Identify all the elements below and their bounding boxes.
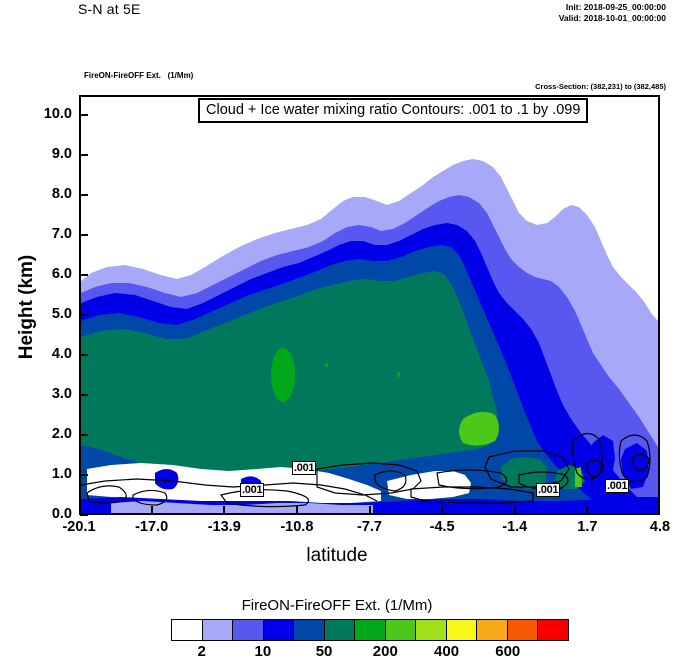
x-tick-mark [223, 506, 225, 514]
y-tick-label: 8.0 [6, 186, 72, 202]
contour-label: .001 [605, 479, 629, 493]
x-tick-label: -1.4 [480, 519, 550, 535]
surface-blue-blob-a [155, 469, 178, 489]
colorbar-swatch [233, 620, 264, 640]
x-tick-mark [369, 506, 371, 514]
colorbar-tick-label: 200 [355, 643, 415, 660]
colorbar-swatch [203, 620, 234, 640]
x-tick-mark [441, 506, 443, 514]
colorbar-tick-label: 600 [478, 643, 538, 660]
y-tick-label: 5.0 [6, 306, 72, 322]
x-tick-label: -17.0 [117, 519, 187, 535]
y-tick-mark [80, 114, 88, 116]
y-tick-label: 1.0 [6, 466, 72, 482]
y-tick-mark [80, 394, 88, 396]
x-tick-label: -10.8 [262, 519, 332, 535]
y-tick-label: 9.0 [6, 146, 72, 162]
init-time: Init: 2018-09-25_00:00:00 [559, 2, 666, 13]
colorbar-swatch [477, 620, 508, 640]
y-tick-label: 4.0 [6, 346, 72, 362]
colorbar-swatch [447, 620, 478, 640]
colorbar-swatch [386, 620, 417, 640]
x-tick-mark [586, 506, 588, 514]
x-tick-label: -4.5 [407, 519, 477, 535]
y-tick-mark [80, 474, 88, 476]
run-time-block: Init: 2018-09-25_00:00:00 Valid: 2018-10… [559, 2, 666, 24]
x-tick-label: -20.1 [44, 519, 114, 535]
y-axis-ticks: 0.01.02.03.04.05.06.07.08.09.010.0 [0, 95, 72, 515]
y-tick-mark [80, 194, 88, 196]
colorbar [171, 619, 569, 641]
plot-area [79, 95, 660, 515]
page-title: S-N at 5E [78, 1, 141, 17]
colorbar-tick-label: 10 [233, 643, 293, 660]
y-tick-label: 10.0 [6, 106, 72, 122]
x-tick-label: 1.7 [552, 519, 622, 535]
cross-section-coords: Cross-Section: (382,231) to (382,485) [535, 82, 666, 91]
valid-time: Valid: 2018-10-01_00:00:00 [559, 13, 666, 24]
green-core-left [271, 348, 295, 402]
x-axis-label: latitude [0, 545, 674, 567]
contour-label: .001 [240, 483, 264, 497]
y-tick-label: 3.0 [6, 386, 72, 402]
x-tick-mark [296, 506, 298, 514]
y-tick-mark [80, 354, 88, 356]
colorbar-swatch [294, 620, 325, 640]
green-speck-2 [397, 372, 400, 377]
x-tick-label: 4.8 [625, 519, 674, 535]
y-tick-label: 7.0 [6, 226, 72, 242]
contour-label: .001 [536, 483, 560, 497]
colorbar-swatch [538, 620, 568, 640]
colorbar-swatch [264, 620, 295, 640]
colorbar-swatch [325, 620, 356, 640]
colorbar-swatch [508, 620, 539, 640]
contour-title: Cloud + Ice water mixing ratio Contours:… [198, 98, 588, 123]
y-tick-mark [80, 234, 88, 236]
colorbar-tick-label: 400 [417, 643, 477, 660]
x-tick-mark [514, 506, 516, 514]
x-tick-label: -7.7 [335, 519, 405, 535]
y-tick-mark [80, 514, 88, 516]
y-tick-mark [80, 274, 88, 276]
colorbar-swatch [416, 620, 447, 640]
x-tick-mark [151, 506, 153, 514]
colorbar-tick-label: 2 [172, 643, 232, 660]
colorbar-title: FireON-FireOFF Ext. (1/Mm) [0, 597, 674, 614]
x-tick-label: -13.9 [189, 519, 259, 535]
y-tick-mark [80, 314, 88, 316]
colorbar-swatch [172, 620, 203, 640]
x-axis-ticks: -20.1-17.0-13.9-10.8-7.7-4.5-1.41.74.8 [0, 519, 674, 541]
colorbar-tick-labels: 21050200400600 [171, 643, 569, 665]
colorbar-swatch [355, 620, 386, 640]
contour-field [81, 97, 658, 513]
y-tick-mark [80, 434, 88, 436]
contour-label: .001 [292, 461, 316, 475]
colorbar-tick-label: 50 [294, 643, 354, 660]
y-tick-label: 2.0 [6, 426, 72, 442]
desc-line-extinction: FireON-FireOFF Ext. (1/Mm) [84, 71, 226, 82]
green-speck-1 [325, 363, 328, 367]
y-tick-label: 6.0 [6, 266, 72, 282]
y-tick-mark [80, 154, 88, 156]
